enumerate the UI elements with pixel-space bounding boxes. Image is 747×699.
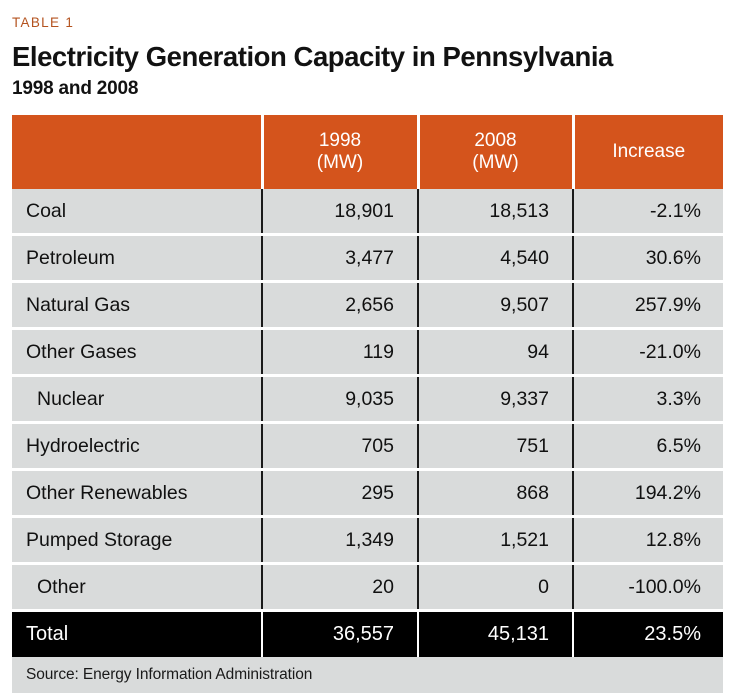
row-label-hydroelectric: Hydroelectric [12, 423, 262, 470]
table-row: Other Renewables 295 868 194.2% [12, 470, 723, 517]
cell-other-renewables-increase: 194.2% [573, 470, 723, 517]
cell-coal-1998: 18,901 [262, 189, 418, 235]
cell-other-gases-2008: 94 [418, 329, 573, 376]
table-total-row: Total 36,557 45,131 23.5% [12, 611, 723, 658]
table-row: Pumped Storage 1,349 1,521 12.8% [12, 517, 723, 564]
table-number-label: TABLE 1 [12, 16, 735, 31]
cell-petroleum-2008: 4,540 [418, 235, 573, 282]
cell-hydroelectric-1998: 705 [262, 423, 418, 470]
cell-other-renewables-2008: 868 [418, 470, 573, 517]
page-subtitle: 1998 and 2008 [12, 78, 735, 100]
cell-coal-2008: 18,513 [418, 189, 573, 235]
cell-other-1998: 20 [262, 564, 418, 611]
table-row: Coal 18,901 18,513 -2.1% [12, 189, 723, 235]
cell-pumped-storage-1998: 1,349 [262, 517, 418, 564]
row-label-coal: Coal [12, 189, 262, 235]
cell-natural-gas-2008: 9,507 [418, 282, 573, 329]
cell-other-increase: -100.0% [573, 564, 723, 611]
table-body: Coal 18,901 18,513 -2.1% Petroleum 3,477… [12, 189, 723, 657]
row-label-other-renewables: Other Renewables [12, 470, 262, 517]
table-row: Nuclear 9,035 9,337 3.3% [12, 376, 723, 423]
row-label-total: Total [12, 611, 262, 658]
cell-nuclear-2008: 9,337 [418, 376, 573, 423]
cell-total-increase: 23.5% [573, 611, 723, 658]
cell-total-2008: 45,131 [418, 611, 573, 658]
column-header-2008: 2008 (MW) [418, 115, 573, 189]
row-label-other: Other [12, 564, 262, 611]
table-source-note: Source: Energy Information Administratio… [12, 657, 723, 693]
row-label-petroleum: Petroleum [12, 235, 262, 282]
cell-hydroelectric-2008: 751 [418, 423, 573, 470]
column-header-1998: 1998 (MW) [262, 115, 418, 189]
cell-coal-increase: -2.1% [573, 189, 723, 235]
table-row: Petroleum 3,477 4,540 30.6% [12, 235, 723, 282]
cell-hydroelectric-increase: 6.5% [573, 423, 723, 470]
cell-natural-gas-1998: 2,656 [262, 282, 418, 329]
cell-pumped-storage-increase: 12.8% [573, 517, 723, 564]
cell-other-renewables-1998: 295 [262, 470, 418, 517]
data-table-container: 1998 (MW) 2008 (MW) Increase Coal 18,901… [12, 115, 723, 693]
data-table: 1998 (MW) 2008 (MW) Increase Coal 18,901… [12, 115, 723, 657]
table-header-row: 1998 (MW) 2008 (MW) Increase [12, 115, 723, 189]
row-label-pumped-storage: Pumped Storage [12, 517, 262, 564]
table-row: Other 20 0 -100.0% [12, 564, 723, 611]
cell-petroleum-1998: 3,477 [262, 235, 418, 282]
table-row: Other Gases 119 94 -21.0% [12, 329, 723, 376]
table-row: Hydroelectric 705 751 6.5% [12, 423, 723, 470]
cell-petroleum-increase: 30.6% [573, 235, 723, 282]
cell-other-gases-increase: -21.0% [573, 329, 723, 376]
cell-nuclear-1998: 9,035 [262, 376, 418, 423]
table-header: 1998 (MW) 2008 (MW) Increase [12, 115, 723, 189]
column-header-1998-year: 1998 [278, 130, 403, 152]
column-header-1998-unit: (MW) [278, 152, 403, 174]
column-header-category [12, 115, 262, 189]
column-header-increase: Increase [573, 115, 723, 189]
table-row: Natural Gas 2,656 9,507 257.9% [12, 282, 723, 329]
table-figure: TABLE 1 Electricity Generation Capacity … [0, 16, 747, 699]
cell-total-1998: 36,557 [262, 611, 418, 658]
cell-nuclear-increase: 3.3% [573, 376, 723, 423]
row-label-other-gases: Other Gases [12, 329, 262, 376]
cell-other-2008: 0 [418, 564, 573, 611]
cell-pumped-storage-2008: 1,521 [418, 517, 573, 564]
row-label-natural-gas: Natural Gas [12, 282, 262, 329]
page-title: Electricity Generation Capacity in Penns… [12, 42, 735, 73]
cell-natural-gas-increase: 257.9% [573, 282, 723, 329]
row-label-nuclear: Nuclear [12, 376, 262, 423]
column-header-2008-unit: (MW) [434, 152, 558, 174]
cell-other-gases-1998: 119 [262, 329, 418, 376]
column-header-2008-year: 2008 [434, 130, 558, 152]
